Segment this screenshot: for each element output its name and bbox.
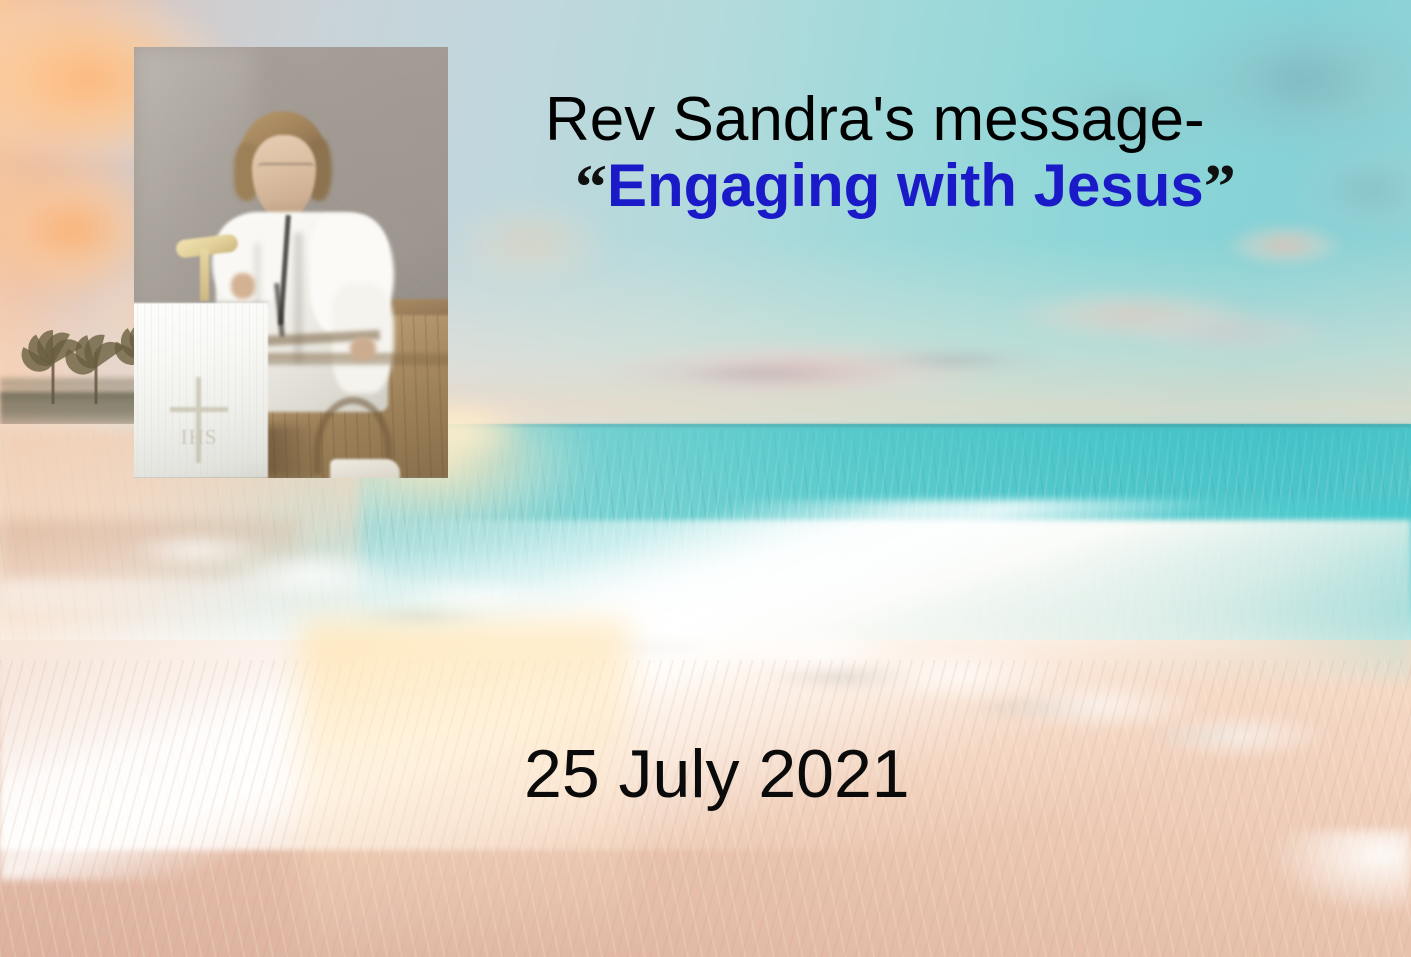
cloud-pink-horizon-center	[560, 330, 1040, 410]
ihs-cross-emblem-icon: IHS	[160, 377, 236, 463]
pulpit-shelf	[262, 353, 448, 365]
shallow-water-right	[980, 500, 1411, 680]
title-line-2: “Engaging with Jesus”	[545, 152, 1345, 219]
cloud-pink-low-right	[1100, 300, 1360, 364]
antependium-top-edge	[134, 301, 268, 306]
pulpit-shadow	[262, 425, 322, 478]
speaker-robe-shoulder-left	[212, 219, 282, 305]
speaker-glasses	[258, 163, 314, 176]
cloud-grey-horizon-a	[590, 352, 930, 396]
photo-wall-background	[134, 47, 448, 478]
speaker-hair-right	[306, 139, 332, 201]
speaker-robe-arm-right	[332, 283, 394, 393]
pulpit-ledge	[260, 330, 380, 346]
ihs-emblem-text: IHS	[164, 425, 234, 447]
sea-foam-edge	[0, 500, 1411, 880]
microphone-icon	[175, 233, 239, 258]
pulpit-wood-grain	[262, 315, 448, 478]
pulpit-papers	[330, 459, 400, 478]
title-block: Rev Sandra's message- “Engaging with Jes…	[545, 88, 1345, 220]
speaker-hair-left	[234, 143, 260, 201]
speaker-hand-right	[350, 337, 376, 361]
speaker-photo-inset: IHS	[134, 47, 448, 478]
speaker-robe-shoulder-right	[310, 215, 394, 335]
sea-foam-bottom-right	[1210, 830, 1411, 957]
antependium-cloth	[134, 303, 268, 478]
quote-open-icon: “	[575, 151, 607, 222]
quote-close-icon: ”	[1204, 151, 1236, 222]
slide-canvas: IHS Rev Sandra's message- “Engaging with…	[0, 0, 1411, 957]
pulpit-body	[262, 315, 448, 478]
tide-line	[0, 580, 460, 610]
cloud-pink-far-right	[1210, 215, 1360, 275]
cloud-grey-horizon-b	[830, 342, 1080, 378]
title-line-1: Rev Sandra's message-	[545, 88, 1345, 152]
speaker-robe-fold-b	[254, 243, 261, 333]
palm-tree-icon	[66, 352, 126, 404]
speaker-neck	[268, 205, 302, 235]
cloud-pink-horizon-right	[980, 280, 1280, 350]
palm-tree-icon	[18, 348, 88, 404]
pulpit-arch-detail	[314, 397, 392, 474]
speaker-face	[252, 135, 316, 219]
speaker-stole-cord-lower	[274, 283, 285, 337]
microphone-stem	[200, 249, 209, 301]
speaker-hair	[239, 111, 327, 193]
beach-sand-shadow-left	[0, 520, 300, 600]
title-line-2-text: Engaging with Jesus	[607, 152, 1204, 219]
speaker-robe-fold-a	[294, 233, 303, 363]
service-date: 25 July 2021	[524, 735, 910, 813]
antependium-texture	[134, 303, 268, 478]
pulpit-top	[264, 299, 448, 321]
photo-wall-highlight	[134, 47, 254, 347]
speaker-hand-left	[231, 273, 255, 299]
photo-wall-texture	[134, 47, 448, 478]
speaker-robe	[216, 212, 388, 412]
speaker-stole-cord	[278, 215, 291, 325]
